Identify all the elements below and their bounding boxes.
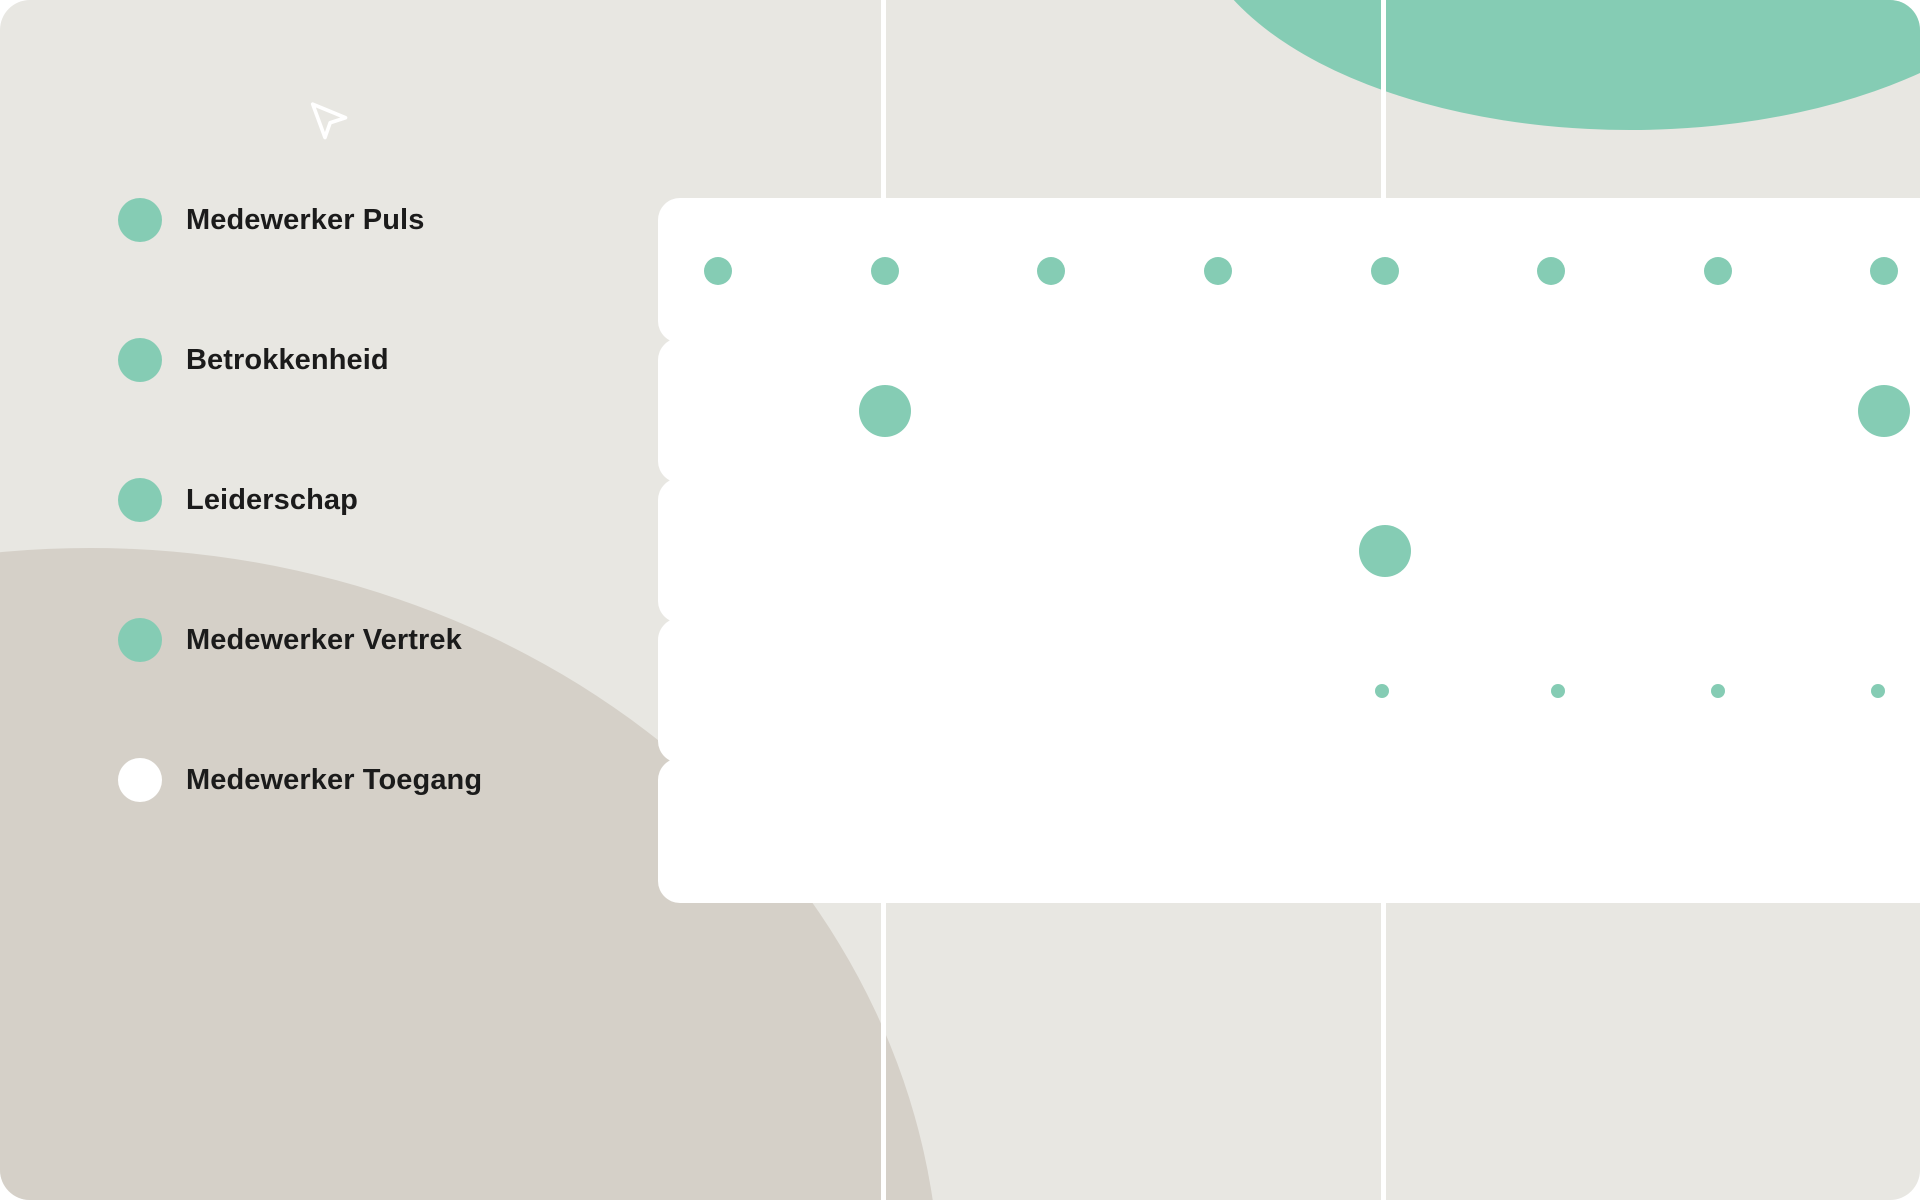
legend-column: Medewerker PulsBetrokkenheidLeiderschapM… [0,0,660,1200]
legend-item-label: Medewerker Toegang [186,764,482,797]
legend-dot-icon [118,758,162,802]
data-point[interactable] [1711,684,1725,698]
legend-item-2[interactable]: Leiderschap [118,476,358,524]
legend-item-1[interactable]: Betrokkenheid [118,336,389,384]
data-point[interactable] [1359,525,1411,577]
legend-item-3[interactable]: Medewerker Vertrek [118,616,462,664]
chart-row-card[interactable] [658,198,1920,343]
chart-row-card[interactable] [658,338,1920,483]
data-point[interactable] [1037,257,1065,285]
data-point[interactable] [1871,684,1885,698]
data-point[interactable] [1204,257,1232,285]
data-point[interactable] [1371,257,1399,285]
legend-item-label: Leiderschap [186,484,358,517]
legend-dot-icon [118,198,162,242]
legend-item-label: Medewerker Puls [186,204,424,237]
legend-item-label: Medewerker Vertrek [186,624,462,657]
data-point[interactable] [1375,684,1389,698]
chart-row-card[interactable] [658,618,1920,763]
timeline-chart-canvas: Medewerker PulsBetrokkenheidLeiderschapM… [0,0,1920,1200]
legend-dot-icon [118,338,162,382]
data-point[interactable] [871,257,899,285]
data-point[interactable] [1551,684,1565,698]
legend-item-label: Betrokkenheid [186,344,389,377]
data-point[interactable] [1537,257,1565,285]
data-point[interactable] [704,257,732,285]
legend-dot-icon [118,478,162,522]
data-point[interactable] [1704,257,1732,285]
legend-dot-icon [118,618,162,662]
legend-item-0[interactable]: Medewerker Puls [118,196,424,244]
chart-row-card[interactable] [658,758,1920,903]
green-blob-decoration [1190,0,1920,130]
data-point[interactable] [1858,385,1910,437]
data-point[interactable] [859,385,911,437]
legend-item-4[interactable]: Medewerker Toegang [118,756,482,804]
data-point[interactable] [1870,257,1898,285]
chart-row-card[interactable] [658,478,1920,623]
